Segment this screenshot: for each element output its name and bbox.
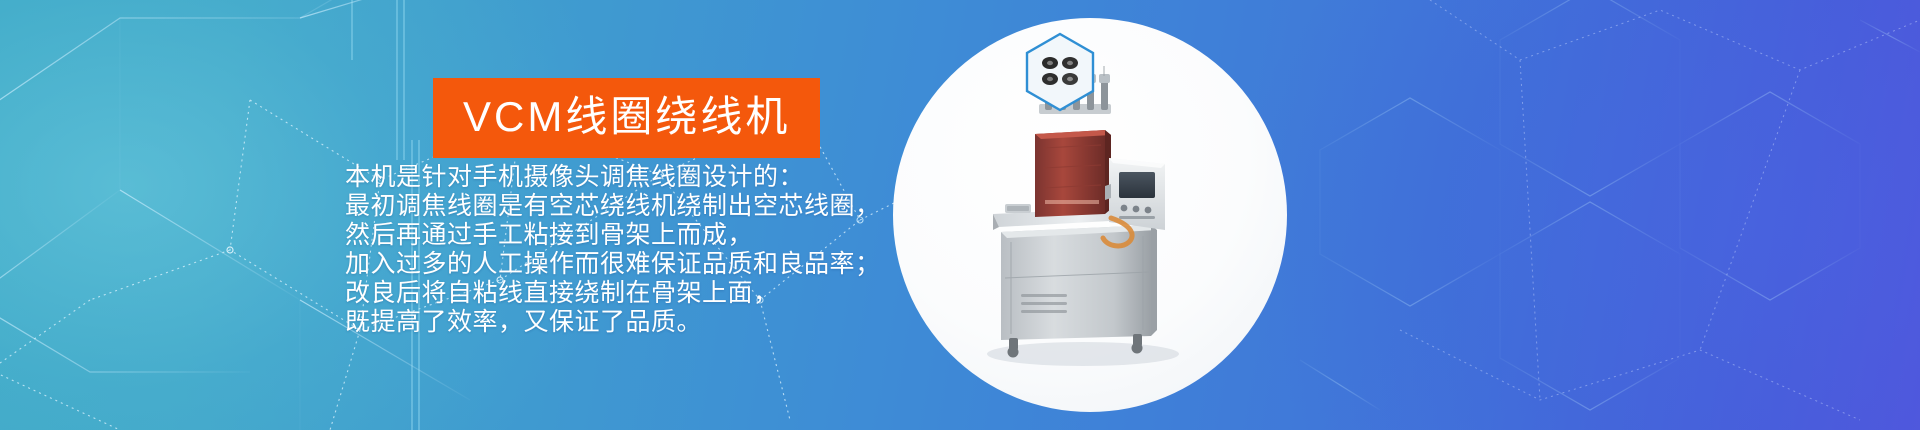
description-line-1: 本机是针对手机摄像头调焦线圈设计的： xyxy=(345,163,881,192)
banner-description: 本机是针对手机摄像头调焦线圈设计的： 最初调焦线圈是有空芯绕线机绕制出空芯线圈，… xyxy=(345,163,881,337)
description-line-5: 改良后将自粘线直接绕制在骨架上面， xyxy=(345,279,881,308)
description-line-6: 既提高了效率，又保证了品质。 xyxy=(345,308,881,337)
description-line-4: 加入过多的人工操作而很难保证品质和良品率； xyxy=(345,250,881,279)
product-banner: VCM线圈绕线机 本机是针对手机摄像头调焦线圈设计的： 最初调焦线圈是有空芯绕线… xyxy=(0,0,1920,430)
banner-title-box: VCM线圈绕线机 xyxy=(433,78,820,158)
background-glow-right xyxy=(1260,0,1920,430)
description-line-2: 最初调焦线圈是有空芯绕线机绕制出空芯线圈， xyxy=(345,192,881,221)
hexagon-coil-samples-badge xyxy=(1024,32,1096,112)
page-title: VCM线圈绕线机 xyxy=(463,96,790,138)
description-line-3: 然后再通过手工粘接到骨架上而成， xyxy=(345,221,881,250)
